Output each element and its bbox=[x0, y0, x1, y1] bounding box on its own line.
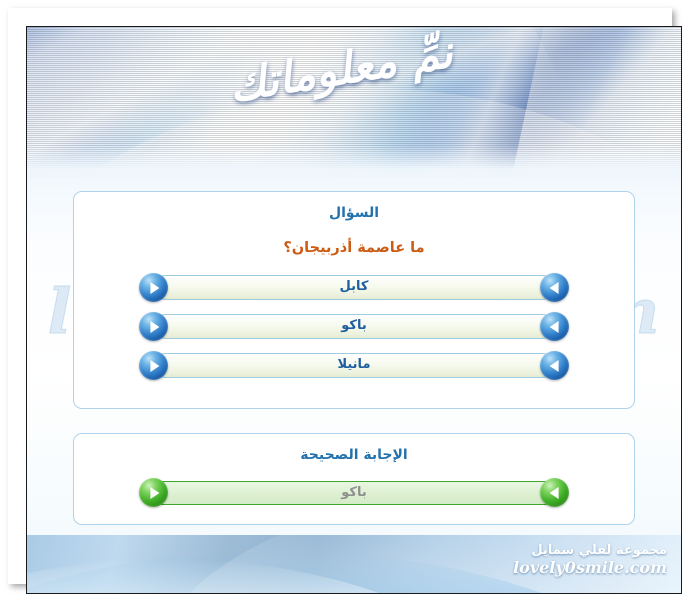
option-label: مانيلا bbox=[139, 357, 569, 372]
footer-url-label: lovely0smile.com bbox=[513, 559, 667, 577]
triangle-left-glyph bbox=[549, 282, 558, 294]
option-row[interactable]: كابل bbox=[139, 273, 569, 302]
question-panel-title: السؤال bbox=[74, 205, 634, 221]
play-arrow-icon[interactable] bbox=[139, 478, 168, 507]
header-banner: نمِّ معلوماتك bbox=[27, 27, 681, 179]
screenshot-root: نمِّ معلوماتك lovely0smile.com السؤال ما… bbox=[0, 0, 692, 602]
answer-label: باكو bbox=[139, 485, 569, 500]
back-arrow-icon[interactable] bbox=[540, 273, 569, 302]
triangle-right-glyph bbox=[150, 360, 159, 372]
options-list: كابل باكو مانيلا bbox=[74, 273, 634, 380]
option-label: باكو bbox=[139, 318, 569, 333]
triangle-left-glyph bbox=[549, 487, 558, 499]
quiz-card: نمِّ معلوماتك lovely0smile.com السؤال ما… bbox=[26, 26, 682, 594]
back-arrow-icon[interactable] bbox=[540, 478, 569, 507]
back-arrow-icon[interactable] bbox=[540, 312, 569, 341]
triangle-right-glyph bbox=[150, 282, 159, 294]
footer-banner: مجموعة لفلي سمايل lovely0smile.com bbox=[27, 535, 681, 593]
question-text: ما عاصمة أذربيجان؟ bbox=[74, 240, 634, 256]
option-row[interactable]: باكو bbox=[139, 312, 569, 341]
header-fade bbox=[27, 145, 681, 179]
option-row[interactable]: مانيلا bbox=[139, 351, 569, 380]
triangle-right-glyph bbox=[150, 487, 159, 499]
triangle-left-glyph bbox=[549, 321, 558, 333]
footer-arabic-label: مجموعة لفلي سمايل bbox=[513, 543, 667, 559]
answer-row: باكو bbox=[139, 478, 569, 507]
question-panel: السؤال ما عاصمة أذربيجان؟ كابل bbox=[73, 191, 635, 409]
footer-text-block: مجموعة لفلي سمايل lovely0smile.com bbox=[513, 543, 667, 578]
option-label: كابل bbox=[139, 279, 569, 294]
page-mat: نمِّ معلوماتك lovely0smile.com السؤال ما… bbox=[8, 8, 672, 584]
play-arrow-icon[interactable] bbox=[139, 273, 168, 302]
triangle-right-glyph bbox=[150, 321, 159, 333]
triangle-left-glyph bbox=[549, 360, 558, 372]
answer-panel: الإجابة الصحيحة باكو bbox=[73, 433, 635, 525]
play-arrow-icon[interactable] bbox=[139, 351, 168, 380]
content-area: lovely0smile.com السؤال ما عاصمة أذربيجا… bbox=[27, 179, 681, 535]
back-arrow-icon[interactable] bbox=[540, 351, 569, 380]
play-arrow-icon[interactable] bbox=[139, 312, 168, 341]
answer-panel-title: الإجابة الصحيحة bbox=[74, 447, 634, 463]
